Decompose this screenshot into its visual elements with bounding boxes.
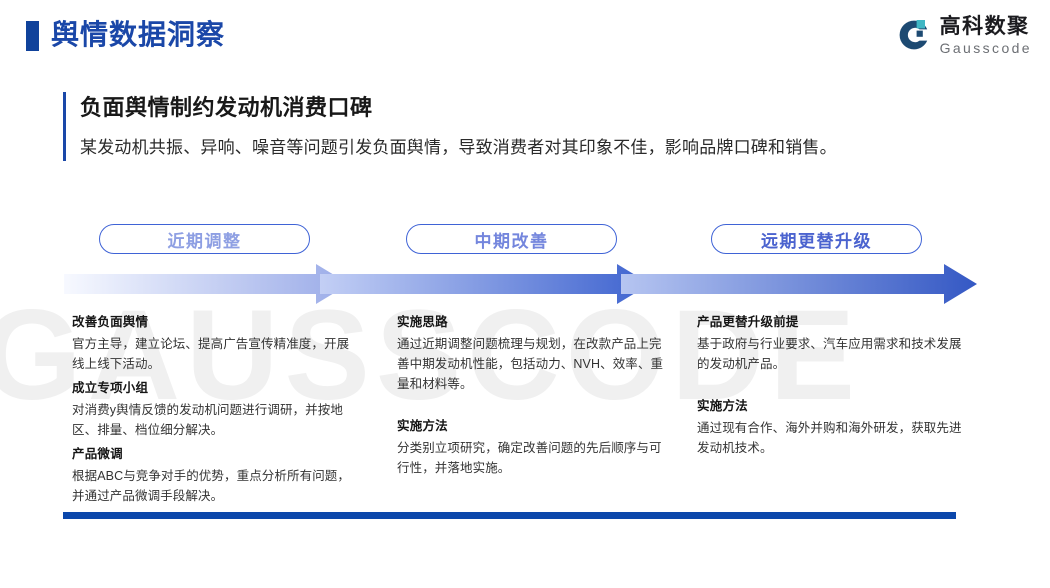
stage-pill-label: 近期调整 [168, 227, 242, 252]
logo-name-cn: 高科数聚 [940, 16, 1032, 37]
stage-pill-label: 中期改善 [475, 227, 549, 252]
stage-pill-near-term[interactable]: 近期调整 [99, 224, 310, 254]
block-body: 官方主导，建立论坛、提高广告宣传精准度，开展线上线下活动。 [72, 334, 352, 374]
block-heading: 成立专项小组 [72, 378, 352, 398]
page-title: 舆情数据洞察 [51, 14, 225, 56]
block-body: 根据ABC与竞争对手的优势，重点分析所有问题，并通过产品微调手段解决。 [72, 466, 352, 506]
block-body: 对消费y舆情反馈的发动机问题进行调研，并按地区、排量、档位细分解决。 [72, 400, 352, 440]
header-bullet-icon [26, 21, 39, 51]
logo-wordmark: 高科数聚 Gausscode [940, 16, 1032, 55]
text-block: 产品更替升级前提 基于政府与行业要求、汽车应用需求和技术发展的发动机产品。 [697, 312, 967, 374]
text-block: 实施思路 通过近期调整问题梳理与规划，在改款产品上完善中期发动机性能，包括动力、… [397, 312, 667, 394]
lead-title: 负面舆情制约发动机消费口碑 [80, 92, 980, 124]
block-heading: 实施思路 [397, 312, 667, 332]
text-block: 产品微调 根据ABC与竞争对手的优势，重点分析所有问题，并通过产品微调手段解决。 [72, 444, 352, 506]
logo-name-en: Gausscode [940, 41, 1032, 55]
column-near-term: 改善负面舆情 官方主导，建立论坛、提高广告宣传精准度，开展线上线下活动。 成立专… [72, 312, 352, 510]
timeline-arrow-band [64, 263, 979, 305]
text-block: 成立专项小组 对消费y舆情反馈的发动机问题进行调研，并按地区、排量、档位细分解决… [72, 378, 352, 440]
column-long-term: 产品更替升级前提 基于政府与行业要求、汽车应用需求和技术发展的发动机产品。 实施… [697, 312, 967, 462]
stage-pill-long-term[interactable]: 远期更替升级 [711, 224, 922, 254]
footer-rule [63, 512, 956, 519]
lead-subtitle: 某发动机共振、异响、噪音等问题引发负面舆情，导致消费者对其印象不佳，影响品牌口碑… [80, 135, 980, 161]
block-heading: 产品更替升级前提 [697, 312, 967, 332]
gausscode-logo-icon [897, 18, 931, 52]
lead-block: 负面舆情制约发动机消费口碑 某发动机共振、异响、噪音等问题引发负面舆情，导致消费… [63, 92, 980, 161]
block-heading: 实施方法 [697, 396, 967, 416]
block-heading: 产品微调 [72, 444, 352, 464]
slide-canvas: GAUSSCODE 舆情数据洞察 高科数聚 Gausscode 负面舆情制约发动… [0, 0, 1050, 588]
block-body: 通过近期调整问题梳理与规划，在改款产品上完善中期发动机性能，包括动力、NVH、效… [397, 334, 667, 394]
stage-pill-label: 远期更替升级 [761, 227, 872, 252]
block-heading: 改善负面舆情 [72, 312, 352, 332]
slide-header: 舆情数据洞察 高科数聚 Gausscode [0, 0, 1050, 72]
brand-logo: 高科数聚 Gausscode [897, 12, 1032, 58]
block-heading: 实施方法 [397, 416, 667, 436]
block-body: 分类别立项研究，确定改善问题的先后顺序与可行性，并落地实施。 [397, 438, 667, 478]
text-block: 实施方法 分类别立项研究，确定改善问题的先后顺序与可行性，并落地实施。 [397, 416, 667, 478]
text-block: 改善负面舆情 官方主导，建立论坛、提高广告宣传精准度，开展线上线下活动。 [72, 312, 352, 374]
column-mid-term: 实施思路 通过近期调整问题梳理与规划，在改款产品上完善中期发动机性能，包括动力、… [397, 312, 667, 482]
stage-pill-mid-term[interactable]: 中期改善 [406, 224, 617, 254]
block-body: 通过现有合作、海外并购和海外研发，获取先进发动机技术。 [697, 418, 967, 458]
block-body: 基于政府与行业要求、汽车应用需求和技术发展的发动机产品。 [697, 334, 967, 374]
text-block: 实施方法 通过现有合作、海外并购和海外研发，获取先进发动机技术。 [697, 396, 967, 458]
